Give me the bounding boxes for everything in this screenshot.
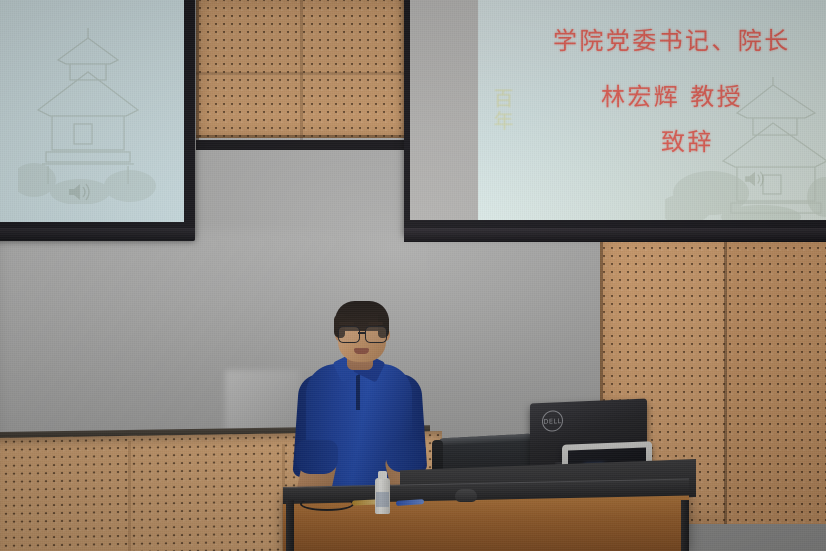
podium-leg-right [681, 500, 689, 551]
podium-leg-left [286, 500, 294, 551]
left-screen-bottom-bar [0, 228, 195, 241]
sanitizer-label [376, 492, 389, 507]
desk-cable [300, 497, 354, 511]
speaker-icon [67, 182, 93, 206]
slide-calligraphy-watermark: 百年 [489, 88, 515, 133]
panel-seam [196, 135, 408, 138]
wall-light-sheen-spot [225, 370, 300, 432]
sleeve-right [386, 440, 426, 472]
eyebrow-left [339, 322, 354, 325]
dell-logo-icon: DELL [542, 410, 563, 432]
eyebrow-right [368, 322, 383, 325]
slide-line-2: 林宏辉 教授 [601, 77, 743, 112]
right-screen-bottom-bar [404, 228, 826, 242]
pagoda-icon [18, 14, 158, 204]
glasses-bridge [358, 332, 366, 334]
panel-seam [196, 72, 408, 75]
slide-line-1: 学院党委书记、院长 [553, 21, 791, 56]
speaker-icon [743, 170, 767, 192]
lens-right [365, 326, 387, 343]
wall-shadow-gap [196, 140, 408, 150]
shirt-placket [356, 370, 360, 410]
panel-seam [300, 0, 303, 142]
slide-line-3: 致辞 [661, 122, 714, 157]
panel-seam [128, 441, 131, 551]
sleeve-left [296, 440, 338, 474]
lecture-hall-photo: 百年 学院党委书记、院长 林宏辉 教授 致辞 DELL [0, 0, 826, 551]
computer-mouse[interactable] [455, 489, 477, 502]
eyeglasses-icon [337, 326, 388, 341]
lens-left [338, 326, 360, 343]
panel-seam [196, 0, 199, 142]
mouth [354, 348, 369, 354]
right-screen-unprojected-margin [410, 0, 478, 220]
left-projection-screen [0, 0, 184, 222]
dell-logo-text: DELL [543, 417, 561, 426]
